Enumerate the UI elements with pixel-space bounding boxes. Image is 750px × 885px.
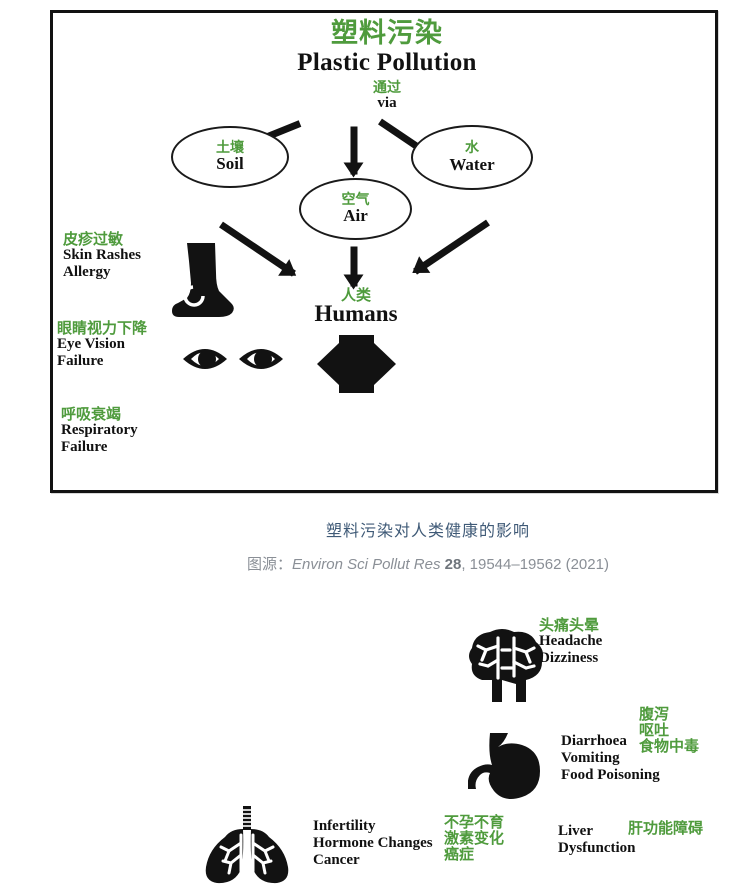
brain-icon [466,628,546,704]
source-pages: , 19544–19562 (2021) [461,556,609,573]
effect-digestive-chinese-2: 呕吐 [639,722,729,738]
effect-head-english-2: Dizziness [539,650,679,667]
effect-reproductive-english-1: Infertility [313,818,453,835]
via-label-chinese: 通过 [53,81,721,96]
effect-reproductive-english-2: Hormone Changes [313,835,453,852]
effect-respiratory-english-1: Respiratory [61,422,179,439]
effect-digestive-chinese-1: 腹泻 [639,706,729,722]
effect-reproductive-chinese-3: 癌症 [444,846,534,862]
arrow-water-to-humans [413,220,490,275]
effect-reproductive-english-3: Cancer [313,852,453,869]
arrow-to-air [351,127,358,175]
effect-digestive-english-3: Food Poisoning [561,767,673,784]
source-volume: 28 [445,556,462,573]
effect-digestive-text-chinese: 腹泻 呕吐 食物中毒 [639,706,729,755]
node-water-english: Water [449,155,494,174]
humans-english: Humans [298,301,414,327]
effect-respiratory-english-2: Failure [61,439,179,456]
effect-reproductive-chinese-1: 不孕不育 [444,814,534,830]
center-humans-label: 人类 Humans [298,287,414,327]
effect-skin-english-2: Allergy [63,264,183,281]
caption-source: 图源：Environ Sci Pollut Res 28, 19544–1956… [53,553,750,574]
bidirectional-arrow-icon [315,335,398,393]
effect-eye-text: 眼睛视力下降 Eye Vision Failure [57,320,187,370]
via-label-english: via [53,95,721,112]
effect-respiratory-text: 呼吸衰竭 Respiratory Failure [61,406,179,456]
page-root: 塑料污染 Plastic Pollution 通过 via 土壤 Soil 空气… [0,0,750,572]
effect-reproductive-text-chinese: 不孕不育 激素变化 癌症 [444,814,534,863]
effect-reproductive-chinese-2: 激素变化 [444,830,534,846]
node-soil: 土壤 Soil [171,126,289,188]
source-prefix: 图源： [247,556,292,573]
node-soil-english: Soil [216,154,243,173]
title-chinese: 塑料污染 [53,19,721,48]
effect-liver-text-chinese: 肝功能障碍 [628,820,748,836]
effect-skin-text: 皮疹过敏 Skin Rashes Allergy [63,231,183,281]
effect-eye-english-2: Failure [57,353,187,370]
figure-title-block: 塑料污染 Plastic Pollution 通过 via [53,19,721,112]
foot-icon [169,241,237,319]
effect-liver-english-2: Dysfunction [558,840,640,857]
effect-head-text: 头痛头晕 Headache Dizziness [539,617,679,667]
lungs-icon [201,805,293,885]
effect-digestive-chinese-3: 食物中毒 [639,738,729,754]
effect-liver-chinese: 肝功能障碍 [628,820,748,836]
node-air: 空气 Air [299,178,412,240]
title-english: Plastic Pollution [53,49,721,77]
effect-respiratory-chinese: 呼吸衰竭 [61,406,179,422]
effect-reproductive-text-english: Infertility Hormone Changes Cancer [313,818,453,868]
effect-skin-chinese: 皮疹过敏 [63,231,183,247]
node-water: 水 Water [411,125,533,190]
arrow-air-to-humans [351,247,358,287]
effect-eye-chinese: 眼睛视力下降 [57,320,187,336]
effect-eye-english-1: Eye Vision [57,336,187,353]
eyes-icon [181,338,285,380]
stomach-icon [468,731,546,801]
caption-title: 塑料污染对人类健康的影响 [53,517,750,541]
effect-skin-english-1: Skin Rashes [63,247,183,264]
node-air-english: Air [343,206,368,225]
infographic-frame: 塑料污染 Plastic Pollution 通过 via 土壤 Soil 空气… [50,10,718,493]
effect-head-english-1: Headache [539,633,679,650]
effect-head-chinese: 头痛头晕 [539,617,679,633]
source-journal: Environ Sci Pollut Res [292,556,440,573]
